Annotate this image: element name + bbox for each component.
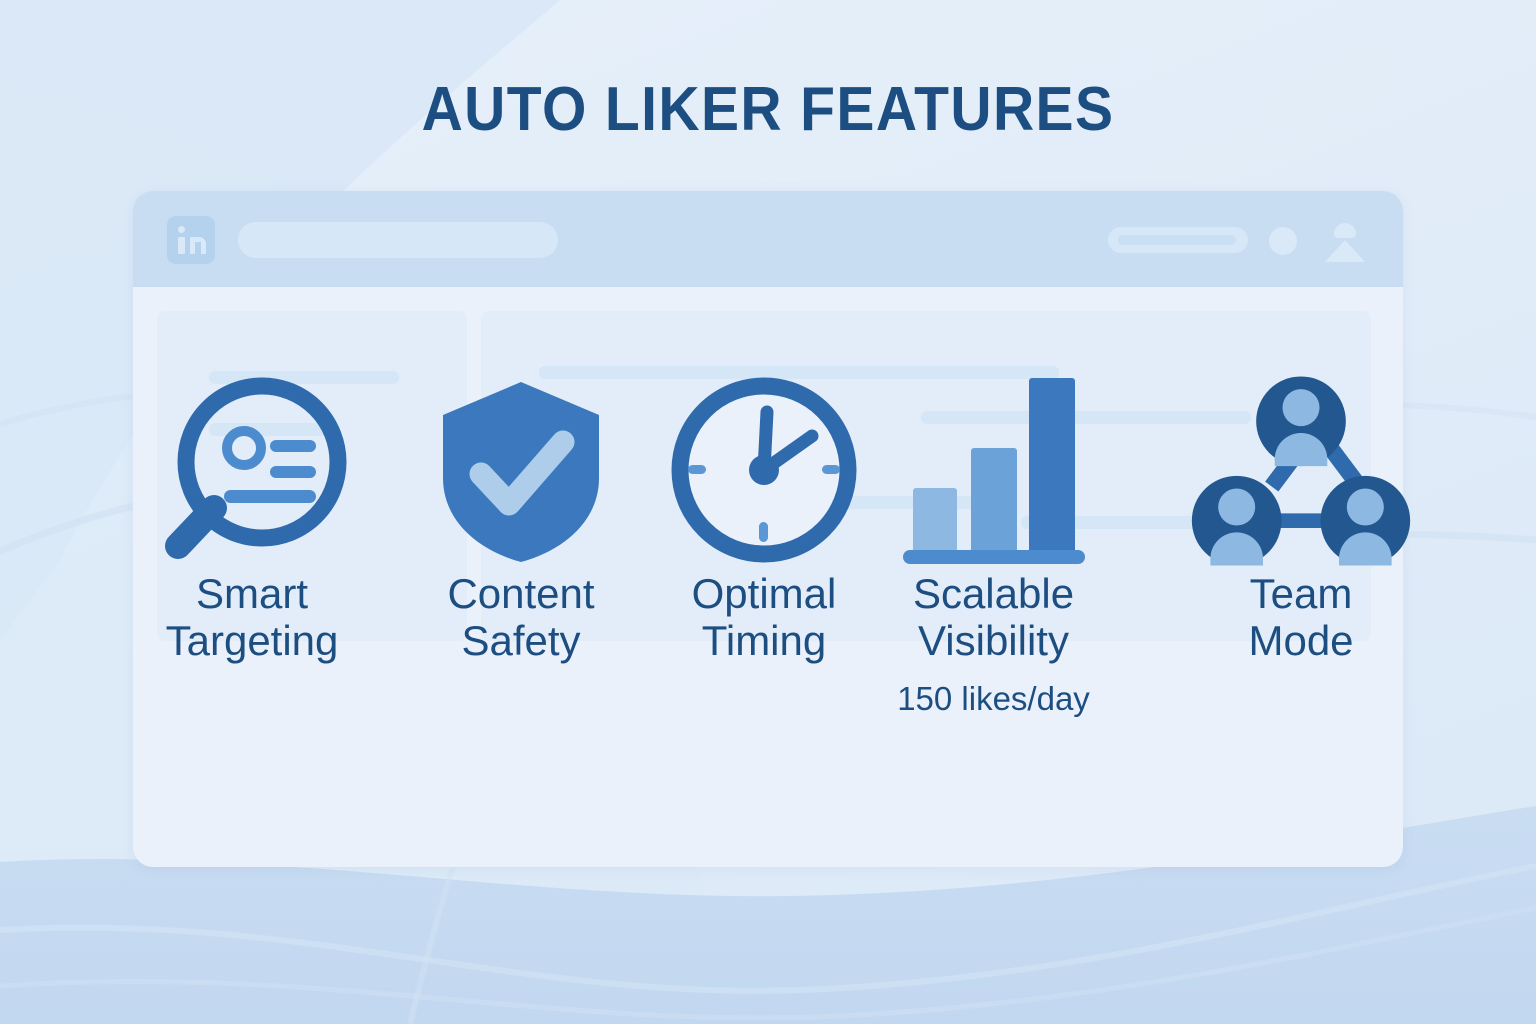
magnifier-profile-icon — [137, 370, 367, 570]
feature-row: Smart Targeting Content Safety Optimal T… — [0, 0, 1536, 1024]
feature-smart-targeting[interactable]: Smart Targeting — [137, 370, 367, 664]
feature-label: Optimal Timing — [649, 570, 879, 664]
bar-chart-icon — [876, 370, 1111, 570]
shield-check-icon — [406, 370, 636, 570]
feature-sublabel: 150 likes/day — [876, 680, 1111, 718]
feature-label: Content Safety — [406, 570, 636, 664]
feature-team-mode[interactable]: Team Mode — [1186, 370, 1416, 664]
feature-scalable-visibility[interactable]: Scalable Visibility 150 likes/day — [876, 370, 1111, 718]
feature-optimal-timing[interactable]: Optimal Timing — [649, 370, 879, 664]
clock-icon — [649, 370, 879, 570]
feature-label: Smart Targeting — [137, 570, 367, 664]
feature-label: Team Mode — [1186, 570, 1416, 664]
page-title: AUTO LIKER FEATURES — [61, 74, 1474, 145]
feature-content-safety[interactable]: Content Safety — [406, 370, 636, 664]
feature-label: Scalable Visibility — [876, 570, 1111, 664]
team-network-icon — [1186, 370, 1416, 570]
